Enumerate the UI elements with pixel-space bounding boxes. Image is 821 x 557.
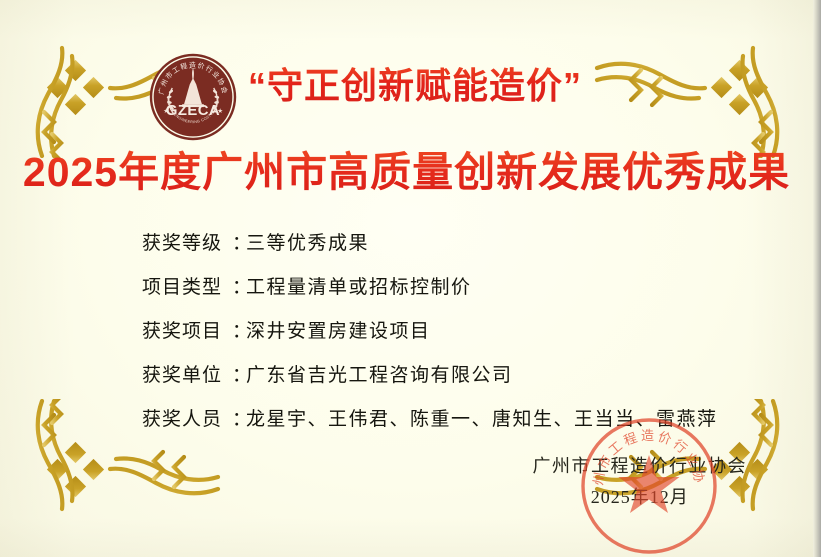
field-label-award-project: 获奖项目 bbox=[142, 316, 232, 343]
field-row-project-type: 项目类型 ： 工程量清单或招标控制价 bbox=[142, 272, 718, 316]
field-value-award-project: 深井安置房建设项目 bbox=[246, 316, 431, 343]
field-colon: ： bbox=[232, 404, 246, 431]
certificate-slogan: “守正创新赋能造价” bbox=[248, 62, 668, 110]
field-value-project-type: 工程量清单或招标控制价 bbox=[246, 272, 472, 299]
paper-right-edge bbox=[813, 0, 821, 557]
field-row-award-personnel: 获奖人员 ： 龙星宇、王伟君、陈重一、唐知生、王当当、雷燕萍 bbox=[142, 404, 718, 448]
certificate-title: 2025年度广州市高质量创新发展优秀成果 bbox=[0, 146, 813, 198]
certificate-fields: 获奖等级 ： 三等优秀成果 项目类型 ： 工程量清单或招标控制价 获奖项目 ： … bbox=[142, 228, 718, 448]
issue-date: 2025年12月 bbox=[533, 483, 748, 509]
association-logo-icon: 广州市工程造价行业协会 bbox=[148, 52, 238, 142]
issuing-organization: 广州市工程造价行业协会 bbox=[533, 452, 748, 478]
certificate-card: 广州市工程造价行业协会 bbox=[0, 0, 821, 557]
field-row-award-unit: 获奖单位 ： 广东省吉光工程咨询有限公司 bbox=[142, 360, 718, 404]
field-value-award-unit: 广东省吉光工程咨询有限公司 bbox=[246, 360, 513, 387]
field-label-award-level: 获奖等级 bbox=[142, 228, 232, 255]
field-label-project-type: 项目类型 bbox=[142, 272, 232, 299]
field-value-award-level: 三等优秀成果 bbox=[246, 228, 369, 255]
field-colon: ： bbox=[232, 316, 246, 343]
field-colon: ： bbox=[232, 272, 246, 299]
field-value-award-personnel: 龙星宇、王伟君、陈重一、唐知生、王当当、雷燕萍 bbox=[246, 404, 718, 431]
signature-block: 广州市工程造价行业协会 2025年12月 bbox=[533, 452, 748, 509]
field-label-award-personnel: 获奖人员 bbox=[142, 404, 232, 431]
field-label-award-unit: 获奖单位 bbox=[142, 360, 232, 387]
field-row-award-project: 获奖项目 ： 深井安置房建设项目 bbox=[142, 316, 718, 360]
field-colon: ： bbox=[232, 360, 246, 387]
field-colon: ： bbox=[232, 228, 246, 255]
field-row-award-level: 获奖等级 ： 三等优秀成果 bbox=[142, 228, 718, 272]
